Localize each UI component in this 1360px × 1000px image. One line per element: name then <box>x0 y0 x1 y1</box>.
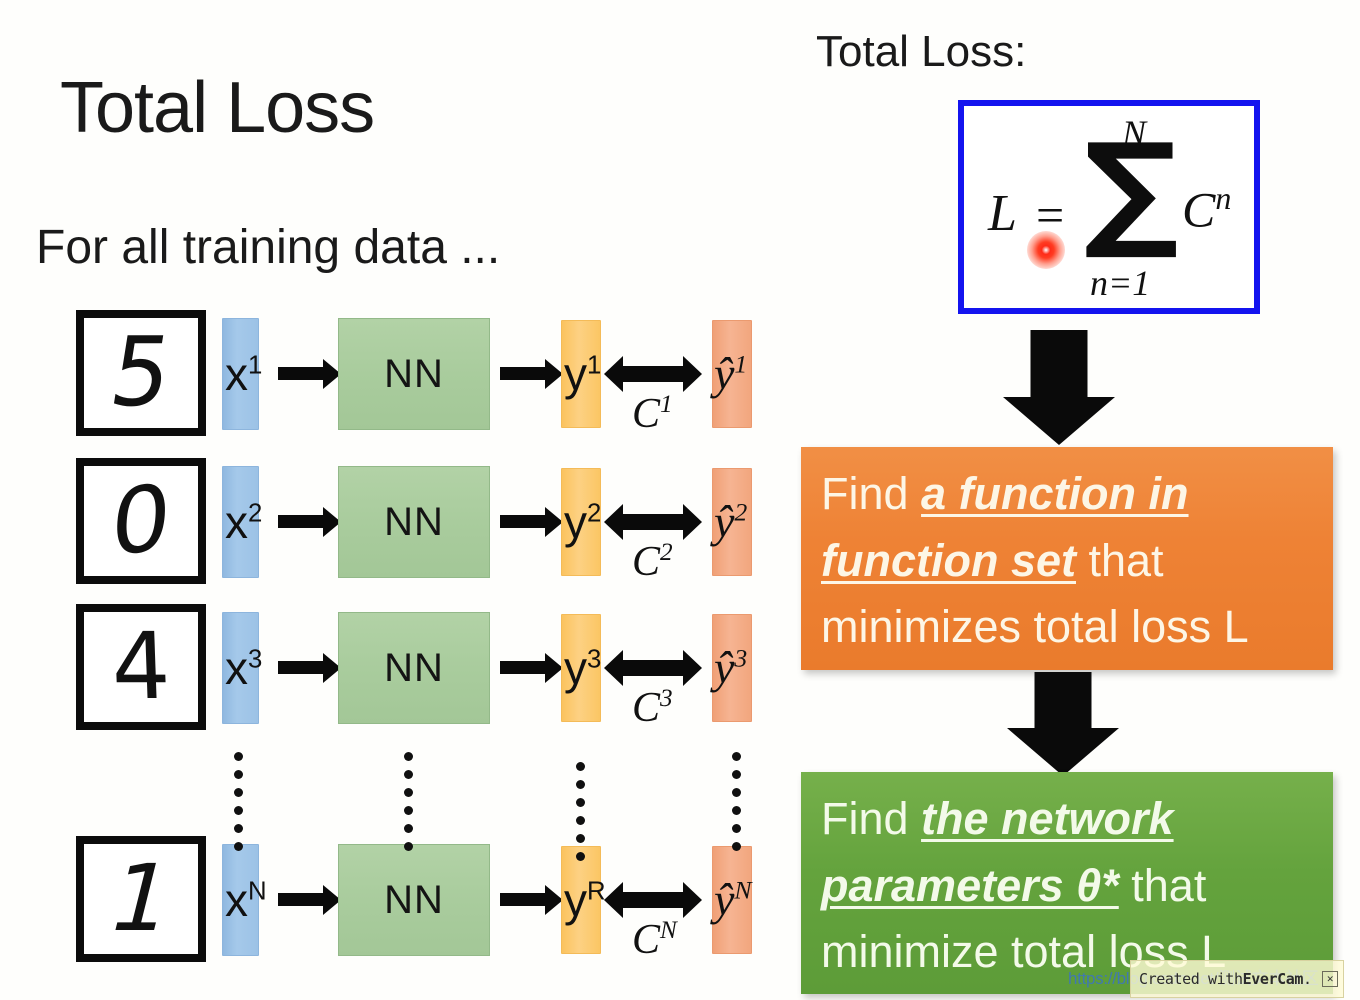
neural-network-box: NN <box>338 318 490 430</box>
ellipsis-dot <box>234 788 243 797</box>
ellipsis-dot <box>404 752 413 761</box>
digit-glyph: 5 <box>76 325 205 421</box>
ellipsis-dot <box>576 780 585 789</box>
ellipsis-dot <box>732 770 741 779</box>
input-vector-label: x2 <box>225 499 262 545</box>
output-vector-superscript: 1 <box>587 352 601 380</box>
equation-cost-superscript: n <box>1215 180 1231 216</box>
callout-orange-line-3: minimizes total loss L <box>821 594 1313 661</box>
target-vector-bar: ŷ2 <box>712 468 752 576</box>
comparison-arrow-icon <box>622 514 684 530</box>
slide-canvas: Total Loss For all training data ... Tot… <box>0 0 1360 1000</box>
output-vector-label: yR <box>564 877 606 923</box>
cost-superscript: N <box>660 917 677 944</box>
cost-superscript: 3 <box>660 685 673 712</box>
mnist-digit-image: 5 <box>76 310 206 436</box>
ellipsis-dot <box>576 762 585 771</box>
ellipsis-dot <box>234 770 243 779</box>
callout-orange-line-2: function set that <box>821 528 1313 595</box>
callout-green-line-2: parameters θ* that <box>821 853 1313 920</box>
callout-find-function: Find a function in function set that min… <box>801 447 1333 670</box>
mnist-digit-image: 1 <box>76 836 206 962</box>
ellipsis-dot <box>234 824 243 833</box>
target-vector-label: ŷ1 <box>714 351 747 397</box>
cost-superscript: 1 <box>660 391 673 418</box>
output-vector-bar: y1 <box>561 320 601 428</box>
emphasis-the-network: the network <box>921 793 1174 844</box>
output-vector-label: y2 <box>564 499 601 545</box>
input-vector-superscript: 3 <box>248 646 262 674</box>
ellipsis-dot <box>732 824 741 833</box>
target-vector-bar: ŷN <box>712 846 752 954</box>
digit-glyph: 1 <box>73 853 210 945</box>
flow-arrow-icon-output <box>500 515 546 528</box>
input-vector-superscript: 1 <box>248 352 262 380</box>
vertical-ellipsis-icon <box>576 762 585 861</box>
equation-lhs: L <box>988 184 1017 243</box>
output-vector-superscript: R <box>587 878 606 906</box>
mnist-digit-image: 0 <box>76 458 206 584</box>
comparison-arrow-icon <box>622 660 684 676</box>
digit-glyph: 4 <box>82 621 199 713</box>
input-vector-label: xN <box>225 877 267 923</box>
nn-label: NN <box>384 352 444 397</box>
equation-content: L = N ∑ n=1 Cn <box>964 106 1254 308</box>
target-vector-label: ŷ3 <box>714 645 747 691</box>
output-vector-superscript: 2 <box>587 500 601 528</box>
page-title: Total Loss <box>60 72 374 144</box>
ellipsis-dot <box>404 788 413 797</box>
nn-label: NN <box>384 878 444 923</box>
cost-label: C2 <box>632 540 673 583</box>
input-vector-label: x3 <box>225 645 262 691</box>
target-vector-bar: ŷ1 <box>712 320 752 428</box>
target-vector-superscript: 3 <box>734 644 747 673</box>
total-loss-heading: Total Loss: <box>816 30 1026 74</box>
target-vector-bar: ŷ3 <box>712 614 752 722</box>
target-vector-superscript: 1 <box>734 350 747 379</box>
input-vector-bar: x2 <box>222 466 259 578</box>
ellipsis-dot <box>404 824 413 833</box>
neural-network-box: NN <box>338 612 490 724</box>
neural-network-box: NN <box>338 844 490 956</box>
input-vector-bar: x1 <box>222 318 259 430</box>
watermark-evercam-brand: EverCam <box>1243 970 1303 988</box>
ellipsis-dot <box>576 834 585 843</box>
watermark-evercam-suffix: . <box>1303 970 1312 988</box>
total-loss-equation-box: L = N ∑ n=1 Cn <box>958 100 1260 314</box>
output-vector-superscript: 3 <box>587 646 601 674</box>
nn-label: NN <box>384 646 444 691</box>
flow-arrow-icon-output <box>500 893 546 906</box>
vertical-ellipsis-icon <box>404 752 413 851</box>
cost-label: CN <box>632 918 677 961</box>
ellipsis-dot <box>732 788 741 797</box>
input-vector-superscript: N <box>248 878 267 906</box>
emphasis-a-function-in: a function in <box>921 468 1188 519</box>
input-vector-bar: xN <box>222 844 259 956</box>
arrow-shaft <box>1035 672 1092 730</box>
flow-arrow-icon-input <box>278 893 324 906</box>
arrow-head <box>1007 728 1119 776</box>
input-vector-bar: x3 <box>222 612 259 724</box>
ellipsis-dot <box>576 816 585 825</box>
close-icon[interactable]: ✕ <box>1322 971 1338 987</box>
ellipsis-dot <box>404 806 413 815</box>
digit-glyph: 0 <box>80 468 203 575</box>
ellipsis-dot <box>234 842 243 851</box>
callout-green-line-1: Find the network <box>821 786 1313 853</box>
watermark-evercam: Created with EverCam. ✕ <box>1130 960 1344 998</box>
flow-arrow-icon-input <box>278 367 324 380</box>
target-vector-label: ŷ2 <box>714 499 747 545</box>
flow-arrow-icon-input <box>278 661 324 674</box>
ellipsis-dot <box>732 842 741 851</box>
mnist-digit-image: 4 <box>76 604 206 730</box>
comparison-arrow-icon <box>622 892 684 908</box>
watermark-evercam-prefix: Created with <box>1139 970 1243 988</box>
arrow-head <box>1003 397 1115 445</box>
summation-icon: ∑ <box>1084 140 1179 241</box>
ellipsis-dot <box>234 752 243 761</box>
nn-label: NN <box>384 500 444 545</box>
output-vector-bar: y3 <box>561 614 601 722</box>
input-vector-superscript: 2 <box>248 500 262 528</box>
flow-arrow-icon-output <box>500 661 546 674</box>
flow-arrow-icon-output <box>500 367 546 380</box>
laser-pointer-dot-icon <box>1027 231 1065 269</box>
emphasis-function-set: function set <box>821 535 1076 586</box>
target-vector-superscript: 2 <box>734 498 747 527</box>
vertical-ellipsis-icon <box>732 752 741 851</box>
callout-orange-line-1: Find a function in <box>821 461 1313 528</box>
output-vector-label: y1 <box>564 351 601 397</box>
flow-arrow-icon-input <box>278 515 324 528</box>
cost-superscript: 2 <box>660 539 673 566</box>
down-arrow-icon-1 <box>1000 330 1118 445</box>
ellipsis-dot <box>732 752 741 761</box>
equation-cost-term: Cn <box>1182 180 1231 239</box>
ellipsis-dot <box>404 770 413 779</box>
cost-label: C1 <box>632 392 673 435</box>
output-vector-label: y3 <box>564 645 601 691</box>
output-vector-bar: y2 <box>561 468 601 576</box>
ellipsis-dot <box>732 806 741 815</box>
ellipsis-dot <box>404 842 413 851</box>
comparison-arrow-icon <box>622 366 684 382</box>
arrow-shaft <box>1031 330 1088 398</box>
equation-sum-lower-limit: n=1 <box>1090 262 1150 304</box>
input-vector-label: x1 <box>225 351 262 397</box>
target-vector-label: ŷN <box>714 877 752 923</box>
cost-label: C3 <box>632 686 673 729</box>
emphasis-parameters-theta: parameters θ* <box>821 860 1119 911</box>
output-vector-bar: yR <box>561 846 601 954</box>
vertical-ellipsis-icon <box>234 752 243 851</box>
ellipsis-dot <box>576 852 585 861</box>
neural-network-box: NN <box>338 466 490 578</box>
subtitle-text: For all training data ... <box>36 224 500 272</box>
down-arrow-icon-2 <box>1004 672 1122 776</box>
target-vector-superscript: N <box>734 876 751 905</box>
ellipsis-dot <box>234 806 243 815</box>
ellipsis-dot <box>576 798 585 807</box>
